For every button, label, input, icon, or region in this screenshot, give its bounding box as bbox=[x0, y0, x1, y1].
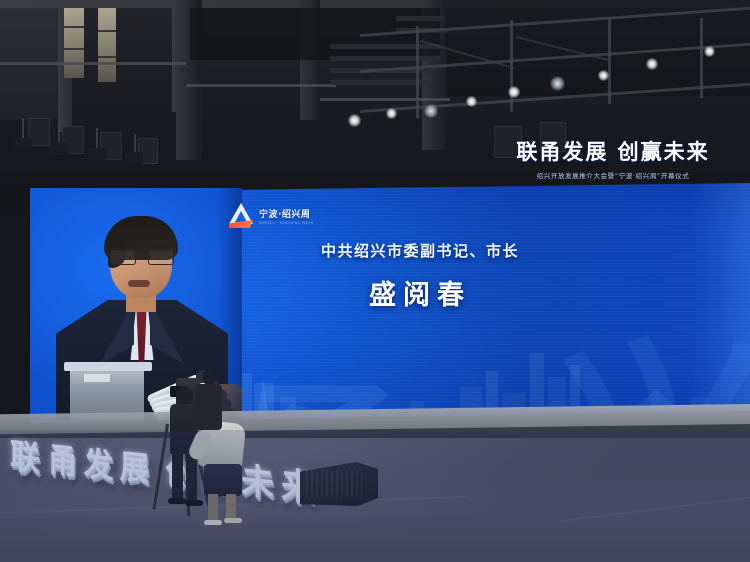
fixture-arm-1 bbox=[22, 118, 24, 140]
stage-monitor-grill bbox=[306, 470, 362, 498]
speaker-glasses-icon bbox=[110, 250, 172, 263]
event-headline: 联甬发展 创赢未来 绍兴开放发展推介大会暨“宁波·绍兴周”开幕仪式 bbox=[498, 136, 728, 180]
conference-stage-photo: 甬 兴 bbox=[0, 0, 750, 562]
truss-post-1 bbox=[416, 26, 419, 118]
speaker-brow-left bbox=[112, 245, 132, 248]
background-figure-head bbox=[202, 370, 216, 385]
truss-spotlight-2 bbox=[386, 108, 397, 119]
lighting-truss bbox=[360, 18, 750, 143]
logo-triangle-inner bbox=[235, 211, 247, 222]
headline-sub-text: 绍兴开放发展推介大会暨“宁波·绍兴周”开幕仪式 bbox=[498, 170, 728, 180]
window-mullion-1 bbox=[64, 26, 84, 28]
speaker-mouth bbox=[128, 280, 150, 287]
truss-spotlight-8 bbox=[646, 58, 658, 70]
event-logo: 宁波·绍兴周 NINGBO · SHAOXING WEEK bbox=[228, 203, 314, 229]
operator-shoe-left bbox=[168, 498, 186, 504]
assistant-sandal-left bbox=[204, 520, 222, 525]
fixture-arm-4 bbox=[134, 134, 136, 154]
background-figure-torso bbox=[196, 384, 222, 430]
floor-letter: 联 bbox=[10, 428, 40, 480]
stage-light-fixture-4 bbox=[126, 152, 143, 164]
mezzanine-rail-mid bbox=[186, 84, 336, 87]
stage-light-fixture-2 bbox=[50, 142, 68, 155]
truss-spotlight-3 bbox=[424, 104, 438, 118]
assistant-shorts bbox=[204, 464, 242, 496]
headline-main-text: 联甬发展 创赢未来 bbox=[498, 136, 728, 166]
triangle-swoosh-icon bbox=[228, 203, 254, 229]
floor-letter: 发 bbox=[84, 436, 114, 487]
glasses-lens-right bbox=[148, 250, 174, 265]
podium-top bbox=[64, 362, 152, 371]
event-logo-subtext: NINGBO · SHAOXING WEEK bbox=[259, 221, 314, 225]
mezzanine-rail-left bbox=[0, 62, 186, 65]
floor-letter: 展 bbox=[120, 439, 150, 490]
floor-letter: 甬 bbox=[48, 432, 77, 483]
ceiling-slab-left bbox=[0, 0, 60, 120]
truss-spotlight-9 bbox=[704, 46, 715, 57]
speaker-nameplate: 中共绍兴市委副书记、市长 盛阅春 bbox=[300, 240, 540, 312]
stage-light-fixture-1 bbox=[14, 138, 32, 151]
glasses-bridge bbox=[134, 255, 148, 257]
fixture-arm-2 bbox=[58, 122, 60, 144]
assistant-sandal-right bbox=[224, 518, 242, 523]
speaker-brow-right bbox=[150, 245, 170, 248]
assistant-leg-left bbox=[208, 494, 218, 522]
fixture-arm-3 bbox=[96, 128, 98, 150]
stage-light-fixture-3 bbox=[88, 148, 106, 161]
truss-spotlight-4 bbox=[466, 96, 477, 107]
truss-spotlight-6 bbox=[550, 76, 565, 91]
speaker-title: 中共绍兴市委副书记、市长 bbox=[300, 240, 540, 261]
operator-leg-left bbox=[172, 452, 183, 500]
tripod-leg-left bbox=[153, 424, 169, 509]
glasses-lens-left bbox=[110, 250, 136, 265]
speaker-name: 盛阅春 bbox=[300, 273, 540, 312]
window-mullion-2 bbox=[64, 48, 84, 50]
truss-spotlight-1 bbox=[348, 114, 361, 127]
truss-spotlight-7 bbox=[598, 70, 609, 81]
podium-plate bbox=[84, 374, 110, 382]
assistant-leg-right bbox=[226, 494, 236, 520]
operator-shoe-right bbox=[185, 500, 203, 506]
window-mullion-4 bbox=[98, 56, 116, 58]
window-mullion-3 bbox=[98, 30, 116, 32]
truss-post-4 bbox=[700, 18, 703, 98]
event-logo-text: 宁波·绍兴周 bbox=[259, 207, 314, 220]
truss-spotlight-5 bbox=[508, 86, 520, 98]
clerestory-window-2 bbox=[98, 6, 116, 82]
clerestory-window-1 bbox=[64, 6, 84, 78]
operator-head bbox=[176, 386, 193, 405]
